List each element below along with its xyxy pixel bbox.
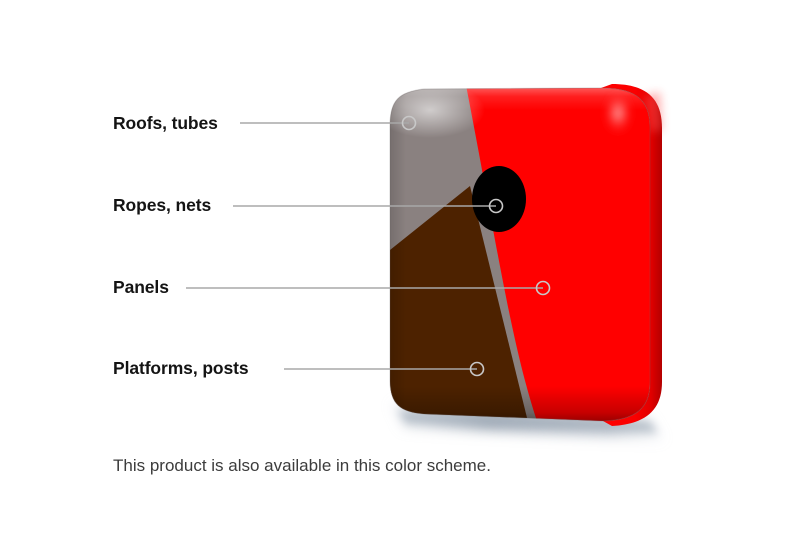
- caption-text: This product is also available in this c…: [113, 457, 491, 474]
- product-front-face: [375, 80, 670, 430]
- region-ropes-nets: [472, 166, 526, 232]
- specular-highlight: [605, 91, 631, 135]
- callout-label-roofs-tubes: Roofs, tubes: [113, 115, 218, 133]
- callout-label-platforms-posts: Platforms, posts: [113, 360, 249, 378]
- product-3d-illustration: [0, 0, 800, 533]
- callout-label-ropes-nets: Ropes, nets: [113, 197, 211, 215]
- illustration-canvas: Roofs, tubes Ropes, nets Panels Platform…: [0, 0, 800, 533]
- callout-label-panels: Panels: [113, 279, 169, 297]
